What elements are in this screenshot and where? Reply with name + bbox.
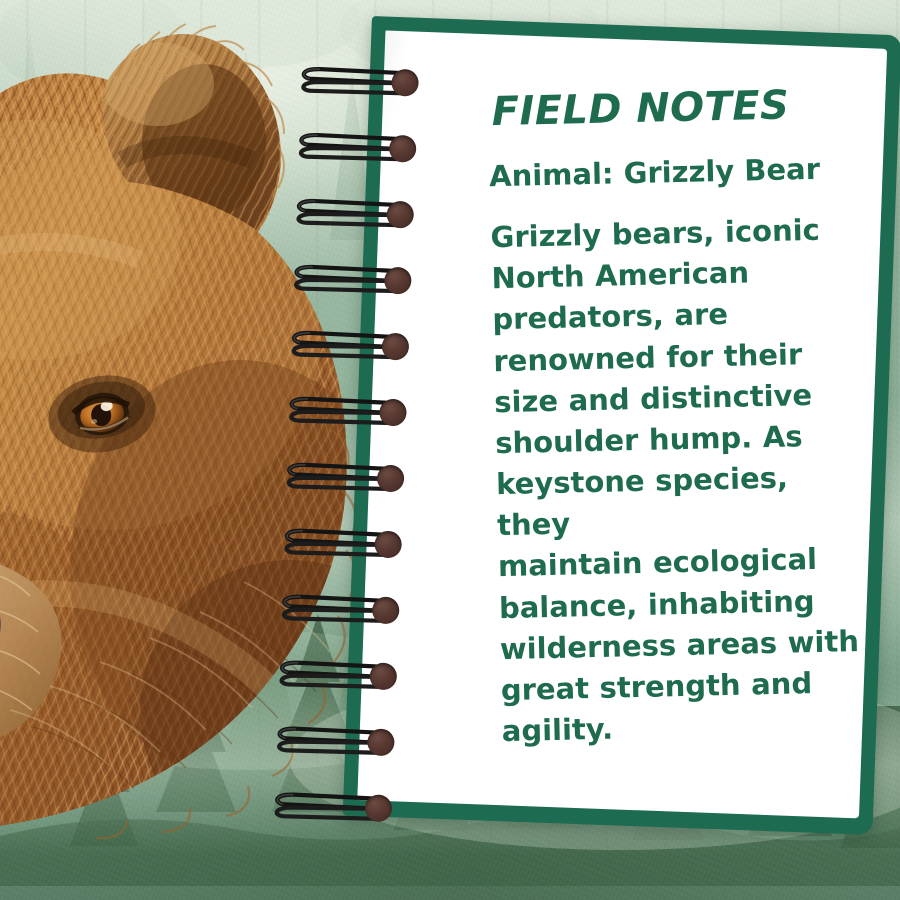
note-body-line: wilderness areas with: [499, 620, 872, 670]
animal-label: Animal: Grizzly Bear: [489, 154, 862, 191]
note-body-line: maintain ecological: [498, 538, 871, 588]
note-body-line: size and distinctive: [494, 373, 867, 423]
field-notes-notepad[interactable]: FIELD NOTES Animal: Grizzly Bear Grizzly…: [343, 16, 900, 835]
note-content: FIELD NOTES Animal: Grizzly Bear Grizzly…: [487, 84, 874, 753]
note-body-line: keystone species, they: [496, 456, 870, 547]
page-title: FIELD NOTES: [491, 84, 860, 132]
note-body-line: agility.: [501, 703, 874, 753]
field-notes-scene: FIELD NOTES Animal: Grizzly Bear Grizzly…: [0, 0, 900, 900]
note-body-line: Grizzly bears, iconic: [490, 209, 863, 259]
note-body: Grizzly bears, iconicNorth Americanpreda…: [490, 209, 874, 753]
